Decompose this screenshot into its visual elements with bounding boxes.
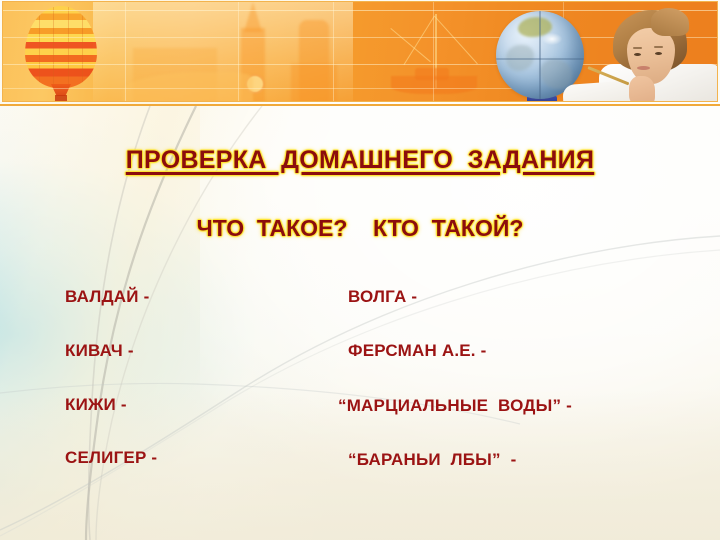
header-banner	[0, 0, 720, 106]
globe-equator-line	[496, 58, 584, 60]
globe-highlight	[542, 33, 562, 45]
list-item: КИВАЧ -	[65, 341, 134, 361]
woman-eyebrow	[633, 47, 642, 49]
list-item: “БАРАНЬИ ЛБЫ” -	[348, 450, 516, 470]
list-item: КИЖИ -	[65, 395, 127, 415]
page-subtitle: ЧТО ТАКОЕ? КТО ТАКОЙ?	[0, 215, 720, 242]
woman-mouth	[637, 66, 650, 70]
list-item: ФЕРСМАН А.Е. -	[348, 341, 487, 361]
list-item: ВОЛГА -	[348, 287, 417, 307]
list-item: ВАЛДАЙ -	[65, 287, 149, 307]
presentation-slide: ПРОВЕРКА ДОМАШНЕГО ЗАДАНИЯ ЧТО ТАКОЕ? КТ…	[0, 0, 720, 540]
woman-hair-fringe	[651, 8, 689, 36]
woman-eyebrow	[654, 46, 663, 48]
woman-eye	[634, 53, 641, 56]
woman-eye	[655, 52, 662, 55]
page-title: ПРОВЕРКА ДОМАШНЕГО ЗАДАНИЯ	[0, 146, 720, 175]
list-item: СЕЛИГЕР -	[65, 448, 157, 468]
woman-hand	[629, 76, 655, 102]
globe-meridian-line	[539, 11, 541, 99]
banner-image	[2, 1, 718, 102]
globe-landmass	[540, 59, 572, 89]
list-item: “МАРЦИАЛЬНЫЕ ВОДЫ” -	[338, 396, 572, 416]
